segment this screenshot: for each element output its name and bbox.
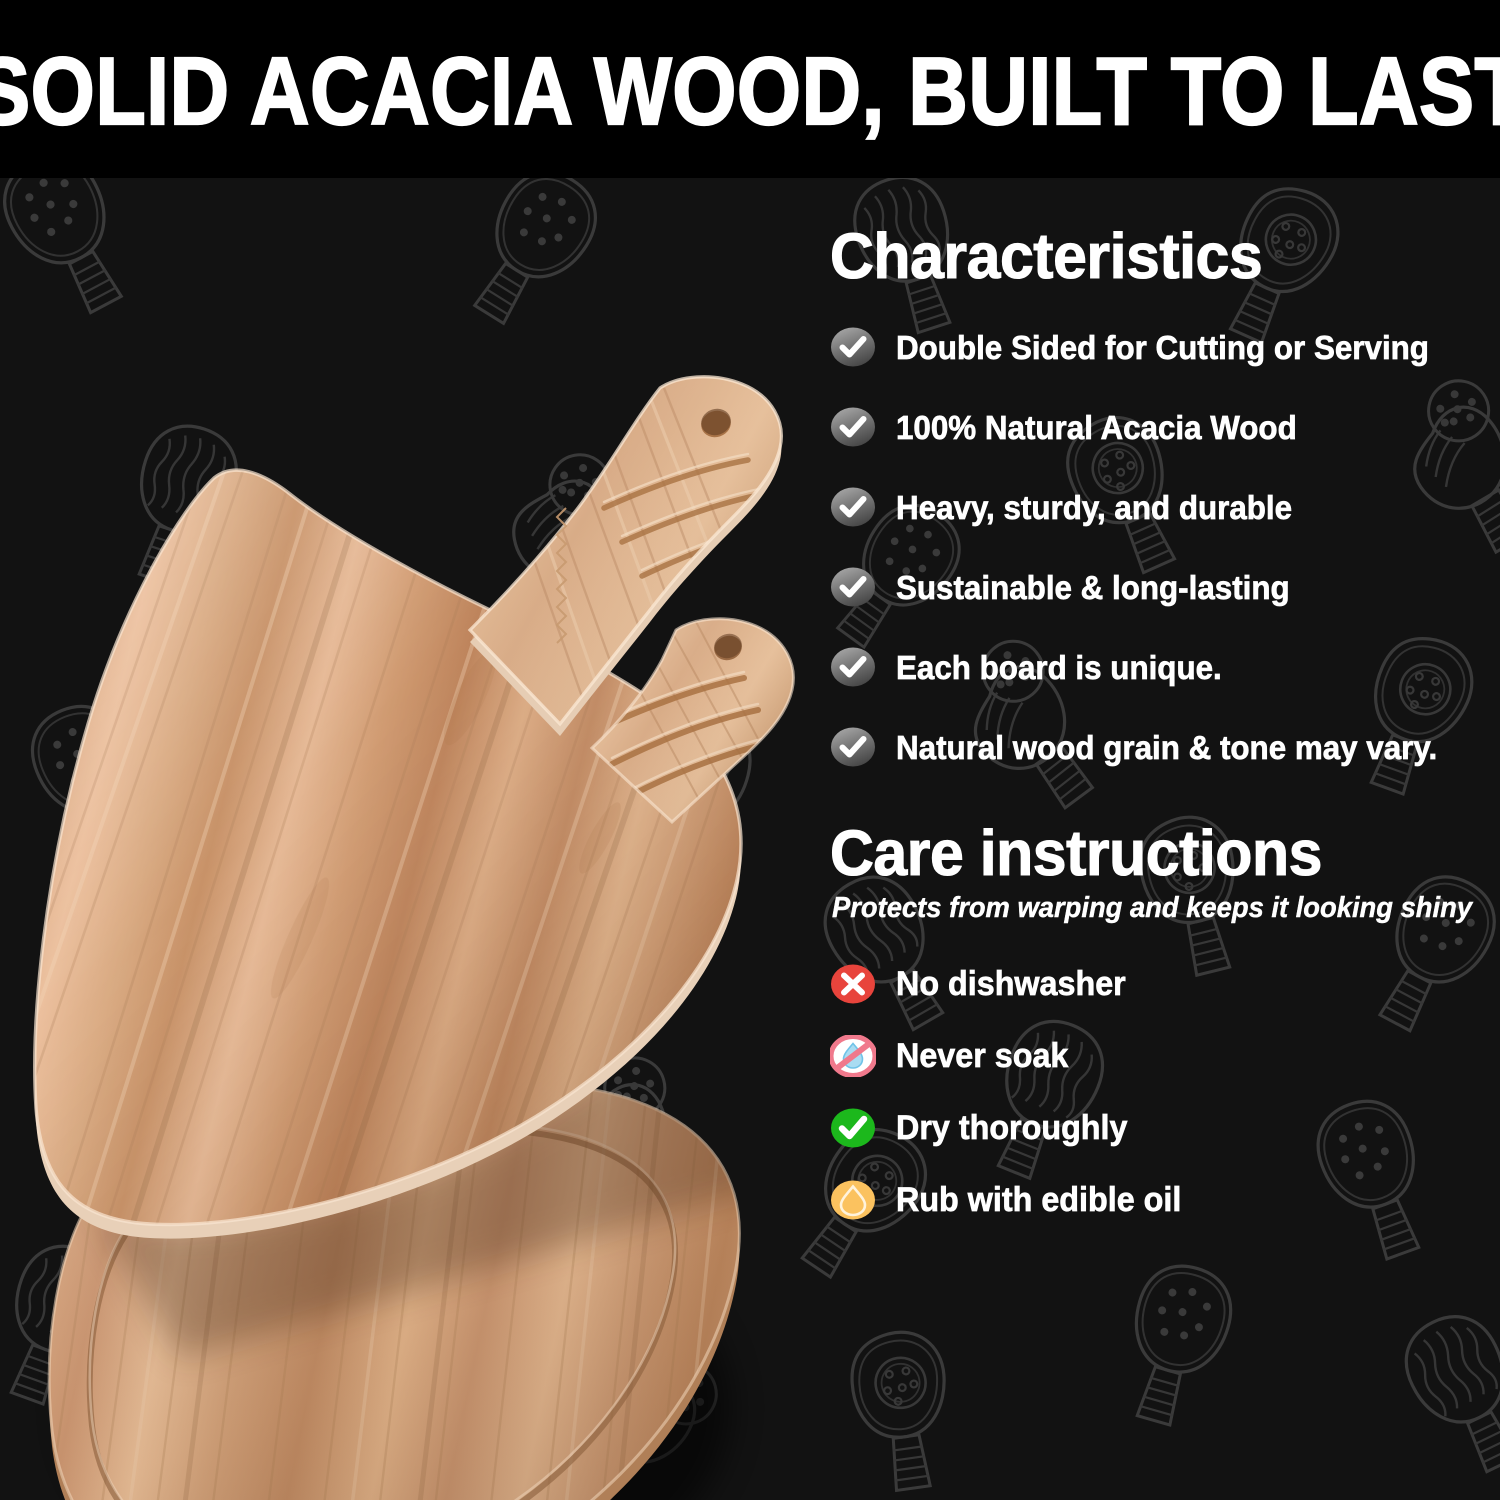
list-item: 100% Natural Acacia Wood [830, 387, 1482, 467]
list-item-label: Dry thoroughly [896, 1111, 1127, 1145]
green-check-icon [830, 1107, 876, 1149]
characteristics-heading: Characteristics [830, 224, 1449, 289]
product-infographic: SOLID ACACIA WOOD, BUILT TO LAST Charact… [0, 0, 1500, 1500]
oil-drop-icon [830, 1179, 876, 1221]
characteristics-list: Double Sided for Cutting or Serving 100%… [822, 307, 1482, 787]
care-instructions-list: No dishwasher Never soak Dry thoroughly [822, 948, 1482, 1236]
list-item-label: No dishwasher [896, 967, 1126, 1001]
list-item: No dishwasher [830, 948, 1482, 1020]
list-item: Never soak [830, 1020, 1482, 1092]
list-item-label: Rub with edible oil [896, 1183, 1181, 1217]
info-column: Characteristics Double Sided for Cutting… [822, 196, 1482, 1486]
list-item: Rub with edible oil [830, 1164, 1482, 1236]
page-title: SOLID ACACIA WOOD, BUILT TO LAST [0, 44, 1500, 140]
gray-check-icon [830, 326, 876, 368]
red-x-icon [830, 963, 876, 1005]
list-item: Natural wood grain & tone may vary. [830, 707, 1482, 787]
header-band: SOLID ACACIA WOOD, BUILT TO LAST [0, 0, 1500, 178]
list-item-label: Sustainable & long-lasting [896, 571, 1290, 604]
list-item-label: Heavy, sturdy, and durable [896, 491, 1292, 524]
list-item: Heavy, sturdy, and durable [830, 467, 1482, 547]
gray-check-icon [830, 646, 876, 688]
list-item-label: Double Sided for Cutting or Serving [896, 331, 1429, 364]
list-item: Sustainable & long-lasting [830, 547, 1482, 627]
gray-check-icon [830, 566, 876, 608]
gray-check-icon [830, 726, 876, 768]
list-item: Double Sided for Cutting or Serving [830, 307, 1482, 387]
list-item-label: Natural wood grain & tone may vary. [896, 731, 1437, 764]
list-item-label: Never soak [896, 1039, 1068, 1073]
list-item-label: Each board is unique. [896, 651, 1222, 684]
list-item: Each board is unique. [830, 627, 1482, 707]
no-soak-icon [830, 1035, 876, 1077]
list-item: Dry thoroughly [830, 1092, 1482, 1164]
care-instructions-subtitle: Protects from warping and keeps it looki… [832, 893, 1456, 924]
gray-check-icon [830, 406, 876, 448]
care-instructions-heading: Care instructions [830, 821, 1449, 886]
list-item-label: 100% Natural Acacia Wood [896, 411, 1297, 444]
gray-check-icon [830, 486, 876, 528]
